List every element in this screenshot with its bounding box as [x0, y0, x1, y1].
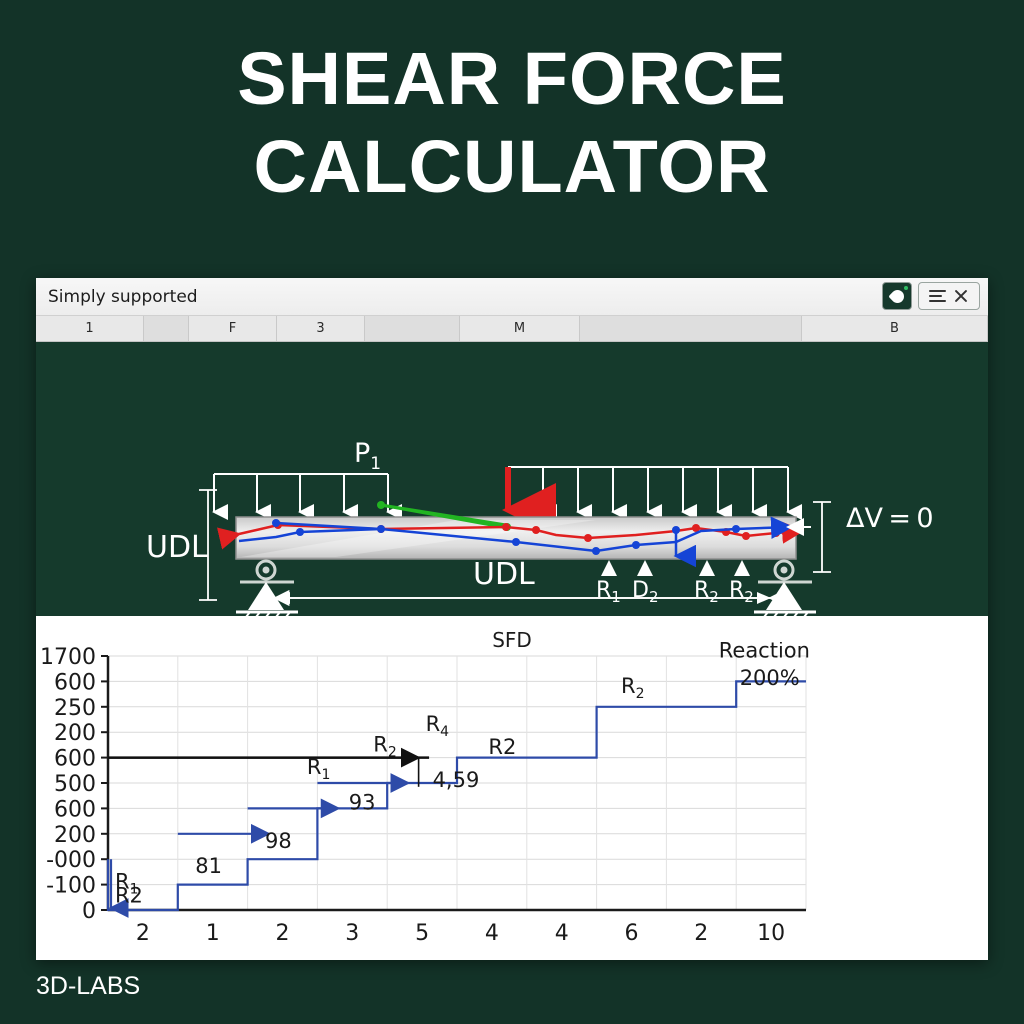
- y-tick-label: 250: [54, 696, 96, 721]
- sfd-annotation: 81: [195, 854, 222, 878]
- column-header-strip: 1F3MB: [36, 316, 988, 342]
- beam-diagram-canvas: UDL UDL P1 ΔV = 0 R1 R2 R1 D2 R2 R2: [36, 342, 988, 616]
- sfd-x-tick-labels: 21235446210: [136, 921, 785, 946]
- y-tick-label: 200: [54, 823, 96, 848]
- y-tick-label: -100: [46, 874, 96, 899]
- x-tick-label: 4: [555, 921, 569, 946]
- support-left: [236, 561, 298, 616]
- svg-text:R2: R2: [694, 578, 719, 606]
- x-tick-label: 2: [136, 921, 150, 946]
- udl-right-arrows: [508, 467, 788, 512]
- sfd-annotation: R2: [621, 674, 645, 702]
- column-header-1[interactable]: [144, 316, 189, 341]
- x-tick-label: 4: [485, 921, 499, 946]
- app-window: Simply supported 1F3MB: [36, 278, 988, 960]
- column-header-3[interactable]: 3: [277, 316, 365, 341]
- svg-text:R2: R2: [729, 578, 754, 606]
- sfd-annotation: 98: [265, 829, 292, 853]
- x-tick-label: 10: [757, 921, 785, 946]
- status-dot: [904, 286, 908, 290]
- sfd-y-tick-labels: 1700600250200600500600200-000-1000: [40, 645, 96, 924]
- beam-marker-labels: R1 D2 R2 R2: [596, 578, 754, 606]
- sfd-annotation: Reaction: [719, 642, 810, 662]
- sfd-annotation: 200%: [740, 666, 800, 690]
- x-tick-label: 1: [206, 921, 220, 946]
- column-header-6[interactable]: [580, 316, 802, 341]
- brand-footer: 3D-LABS: [36, 972, 140, 1001]
- udl-left-arrows: [214, 474, 388, 512]
- title-line-1: SHEAR FORCE: [0, 42, 1024, 116]
- delta-v-dimension: [813, 502, 831, 572]
- window-controls: [882, 282, 980, 310]
- udl-left-label: UDL: [146, 530, 208, 565]
- page-title: SHEAR FORCE CALCULATOR: [0, 42, 1024, 204]
- x-tick-label: 2: [276, 921, 290, 946]
- sfd-annotation: R2: [488, 735, 516, 759]
- series-green-point: [377, 501, 385, 509]
- y-tick-label: 600: [54, 670, 96, 695]
- y-tick-label: 200: [54, 721, 96, 746]
- x-tick-label: 2: [694, 921, 708, 946]
- beam-marker-triangles: [601, 560, 750, 576]
- sfd-chart-svg: 1700600250200600500600200-000-1000 21235…: [36, 642, 988, 960]
- delta-v-label: ΔV = 0: [846, 503, 934, 534]
- window-title-bar: Simply supported: [36, 278, 988, 316]
- sfd-annotation: 93: [349, 791, 376, 815]
- sfd-annotation: R2: [115, 883, 143, 907]
- x-tick-label: 5: [415, 921, 429, 946]
- point-load-label: P1: [354, 438, 381, 474]
- column-header-5[interactable]: M: [460, 316, 580, 341]
- title-line-2: CALCULATOR: [0, 130, 1024, 204]
- y-tick-label: 600: [54, 797, 96, 822]
- y-tick-label: 1700: [40, 645, 96, 670]
- support-right: [754, 561, 816, 616]
- column-header-7[interactable]: B: [802, 316, 988, 341]
- y-tick-label: 500: [54, 772, 96, 797]
- y-tick-label: -000: [46, 848, 96, 873]
- y-tick-label: 0: [82, 899, 96, 924]
- sfd-annotation: R1: [307, 755, 331, 783]
- sfd-annotation: R4: [426, 712, 450, 740]
- beam-diagram-svg: UDL UDL P1 ΔV = 0 R1 R2 R1 D2 R2 R2: [36, 342, 988, 616]
- sfd-annotation: 4,59: [433, 768, 480, 792]
- column-header-4[interactable]: [365, 316, 460, 341]
- udl-center-label: UDL: [473, 557, 535, 592]
- drop-logo-icon[interactable]: [882, 282, 912, 310]
- svg-text:R1: R1: [596, 578, 621, 606]
- window-title-text: Simply supported: [48, 287, 198, 307]
- svg-text:D2: D2: [632, 578, 659, 606]
- drop-shape: [888, 287, 906, 305]
- column-header-0[interactable]: 1: [36, 316, 144, 341]
- y-tick-label: 600: [54, 747, 96, 772]
- x-tick-label: 6: [625, 921, 639, 946]
- close-icon[interactable]: [953, 288, 969, 304]
- x-tick-label: 3: [345, 921, 359, 946]
- column-header-2[interactable]: F: [189, 316, 277, 341]
- hamburger-menu-icon[interactable]: [929, 290, 946, 303]
- sfd-annotation: R2: [373, 732, 397, 760]
- sfd-arrows: [108, 758, 419, 908]
- menu-and-close-group: [918, 282, 980, 310]
- sfd-panel: SFD 1700600250200600500600200-000-1000 2…: [36, 616, 988, 960]
